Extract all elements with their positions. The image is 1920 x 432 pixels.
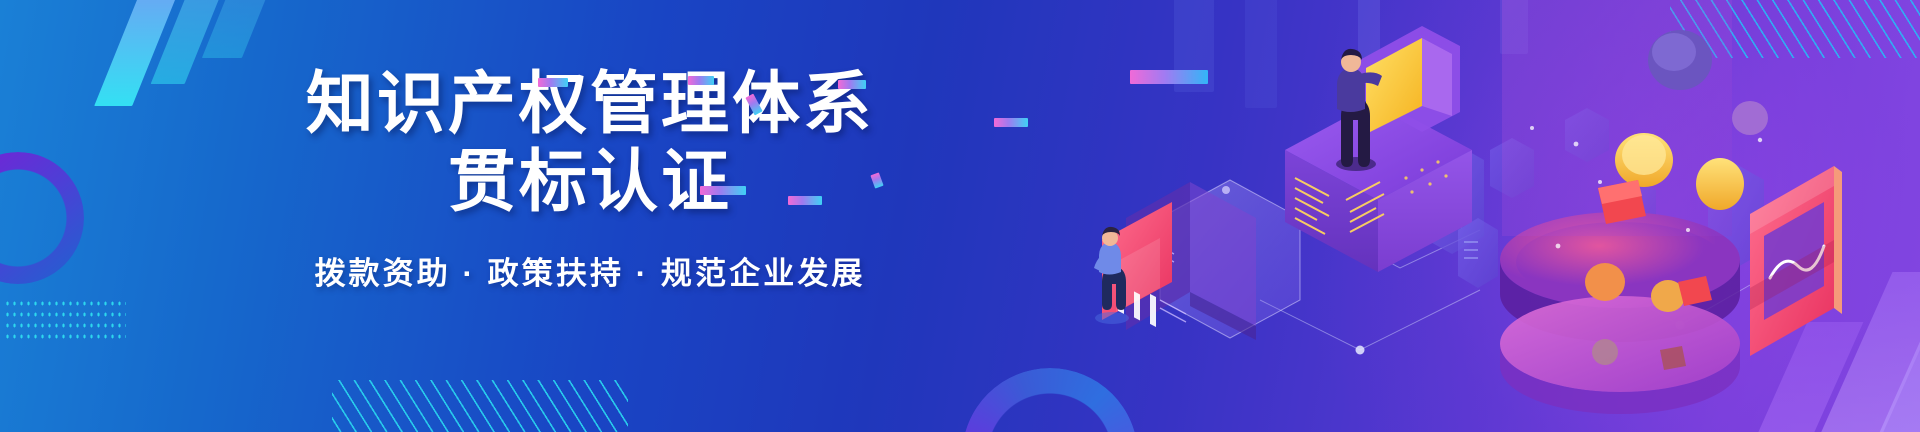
promo-banner: 知识产权管理体系 贯标认证 拨款资助 · 政策扶持 · 规范企业发展 — [0, 0, 1920, 432]
illustration-svg — [1060, 0, 1920, 432]
title-accent-chip — [688, 76, 714, 85]
banner-title-line1: 知识产权管理体系 — [0, 70, 1180, 138]
title-accent-chip — [838, 80, 866, 89]
isometric-illustration — [1060, 0, 1920, 432]
title-accent-chip — [700, 186, 746, 195]
banner-subtitle: 拨款资助 · 政策扶持 · 规范企业发展 — [0, 248, 1180, 293]
banner-title-line2: 贯标认证 — [0, 148, 1180, 216]
coin-cylinder-icon — [1500, 212, 1740, 414]
title-accent-chip — [788, 196, 822, 205]
banner-text-block: 知识产权管理体系 贯标认证 拨款资助 · 政策扶持 · 规范企业发展 — [0, 0, 1180, 432]
title-accent-chip — [994, 118, 1028, 127]
title-accent-chip — [538, 78, 568, 87]
falling-coins-icon — [1502, 0, 1768, 248]
